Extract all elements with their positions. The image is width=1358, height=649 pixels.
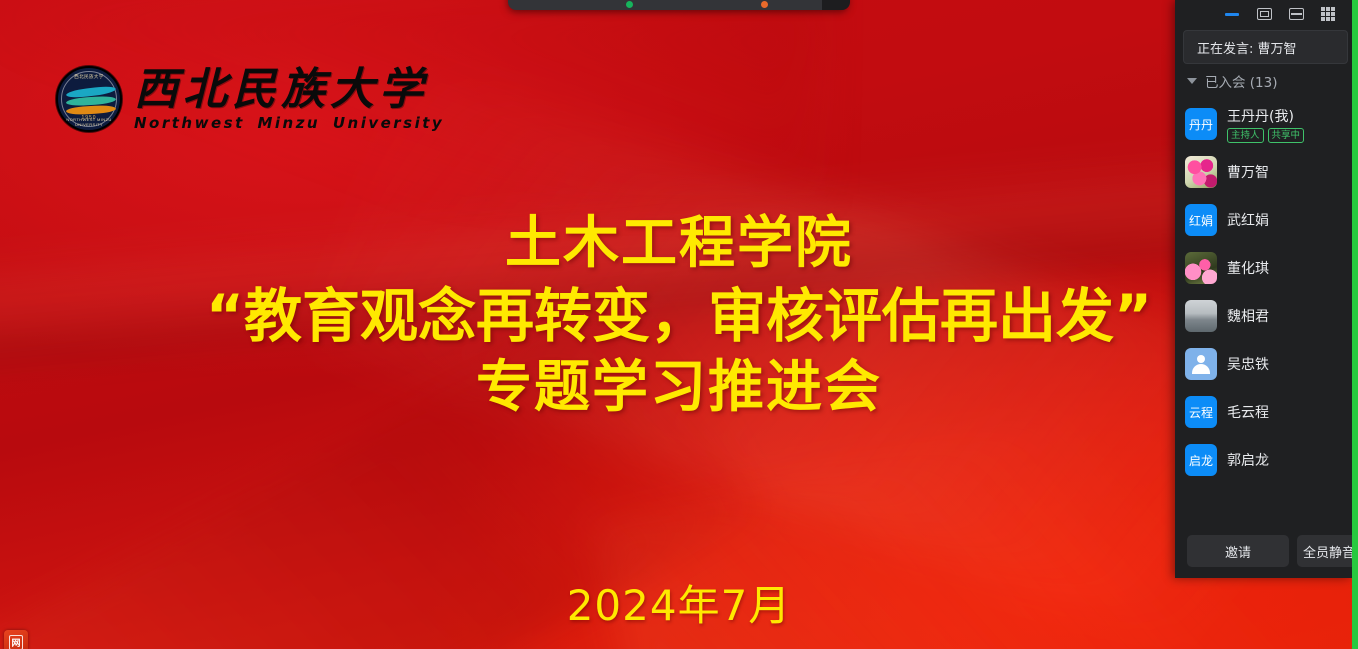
university-seal-icon: 西北民族大学 1950 NORTHWEST MINZU UNIVERSITY: [56, 66, 122, 132]
participant-badges: 主持人共享中: [1227, 128, 1304, 143]
avatar: 红娟: [1185, 204, 1217, 236]
participant-name: 魏相君: [1227, 306, 1269, 326]
participant-row[interactable]: 曹万智: [1175, 148, 1352, 196]
slide-date: 2024年7月: [0, 572, 1358, 633]
status-badge: 主持人: [1227, 128, 1264, 143]
avatar: 丹丹: [1185, 108, 1217, 140]
seal-arc-top-label: 西北民族大学: [58, 74, 120, 80]
panel-window-controls: [1175, 0, 1352, 28]
participant-name: 吴忠铁: [1227, 354, 1269, 374]
participant-row[interactable]: 红娟武红娟: [1175, 196, 1352, 244]
toolbar-orange-indicator: [761, 1, 768, 8]
title-line-2: “教育观念再转变，审核评估再出发”: [0, 280, 1358, 352]
participant-info: 吴忠铁: [1227, 354, 1269, 374]
participant-name: 曹万智: [1227, 162, 1269, 182]
avatar-initials: 丹丹: [1189, 116, 1213, 133]
joined-section-header[interactable]: 已入会 (13): [1175, 64, 1352, 98]
minimize-icon[interactable]: [1224, 6, 1240, 22]
participant-info: 王丹丹(我)主持人共享中: [1227, 106, 1304, 143]
participant-row[interactable]: 魏相君: [1175, 292, 1352, 340]
participant-name: 武红娟: [1227, 210, 1269, 230]
chevron-down-icon: [1187, 78, 1197, 84]
speaking-indicator: 正在发言: 曹万智: [1183, 30, 1348, 64]
participant-row[interactable]: 丹丹王丹丹(我)主持人共享中: [1175, 100, 1352, 148]
participant-list[interactable]: 丹丹王丹丹(我)主持人共享中曹万智红娟武红娟董化琪魏相君吴忠铁云程毛云程启龙郭启…: [1175, 98, 1352, 524]
logo-en-name: Northwest Minzu University: [134, 116, 444, 131]
avatar: [1185, 348, 1217, 380]
logo-cn-name: 西北民族大学: [134, 68, 444, 112]
app-icon[interactable]: 网: [4, 630, 28, 649]
app-icon-label: 网: [9, 635, 22, 649]
participant-info: 魏相君: [1227, 306, 1269, 326]
participant-row[interactable]: 吴忠铁: [1175, 340, 1352, 388]
logo-wordmark: 西北民族大学 Northwest Minzu University: [134, 68, 444, 131]
participant-name: 王丹丹(我): [1227, 106, 1304, 126]
status-badge: 共享中: [1268, 128, 1305, 143]
avatar: 云程: [1185, 396, 1217, 428]
avatar: 启龙: [1185, 444, 1217, 476]
participant-row[interactable]: 启龙郭启龙: [1175, 436, 1352, 484]
panel-footer: 邀请 全员静音: [1175, 524, 1352, 578]
participant-info: 曹万智: [1227, 162, 1269, 182]
joined-section-label: 已入会 (13): [1205, 71, 1278, 91]
university-logo: 西北民族大学 1950 NORTHWEST MINZU UNIVERSITY 西…: [56, 66, 444, 132]
avatar: [1185, 252, 1217, 284]
slide-title: 土木工程学院 “教育观念再转变，审核评估再出发” 专题学习推进会: [0, 208, 1358, 424]
avatar-initials: 启龙: [1189, 452, 1213, 469]
invite-button[interactable]: 邀请: [1187, 535, 1289, 567]
person-icon: [1190, 353, 1212, 375]
toolbar-end-cap[interactable]: [822, 0, 850, 10]
participant-name: 董化琪: [1227, 258, 1269, 278]
participant-info: 董化琪: [1227, 258, 1269, 278]
participant-info: 武红娟: [1227, 210, 1269, 230]
participant-info: 郭启龙: [1227, 450, 1269, 470]
seal-arc-bottom-label: NORTHWEST MINZU UNIVERSITY: [58, 117, 120, 127]
split-view-icon[interactable]: [1288, 6, 1304, 22]
participant-name: 郭启龙: [1227, 450, 1269, 470]
mute-all-button[interactable]: 全员静音: [1297, 535, 1358, 567]
participant-row[interactable]: 云程毛云程: [1175, 388, 1352, 436]
participants-panel: 正在发言: 曹万智 已入会 (13) 丹丹王丹丹(我)主持人共享中曹万智红娟武红…: [1175, 0, 1352, 578]
toolbar-green-indicator: [626, 1, 633, 8]
grid-view-icon[interactable]: [1320, 6, 1336, 22]
avatar-initials: 云程: [1189, 404, 1213, 421]
title-line-1: 土木工程学院: [0, 208, 1358, 280]
participant-name: 毛云程: [1227, 402, 1269, 422]
avatar: [1185, 300, 1217, 332]
avatar: [1185, 156, 1217, 188]
meeting-toolbar[interactable]: [508, 0, 848, 10]
participant-info: 毛云程: [1227, 402, 1269, 422]
single-view-icon[interactable]: [1256, 6, 1272, 22]
shared-screen-slide: 西北民族大学 1950 NORTHWEST MINZU UNIVERSITY 西…: [0, 0, 1358, 649]
avatar-initials: 红娟: [1189, 212, 1213, 229]
title-line-3: 专题学习推进会: [0, 352, 1358, 424]
participant-row[interactable]: 董化琪: [1175, 244, 1352, 292]
